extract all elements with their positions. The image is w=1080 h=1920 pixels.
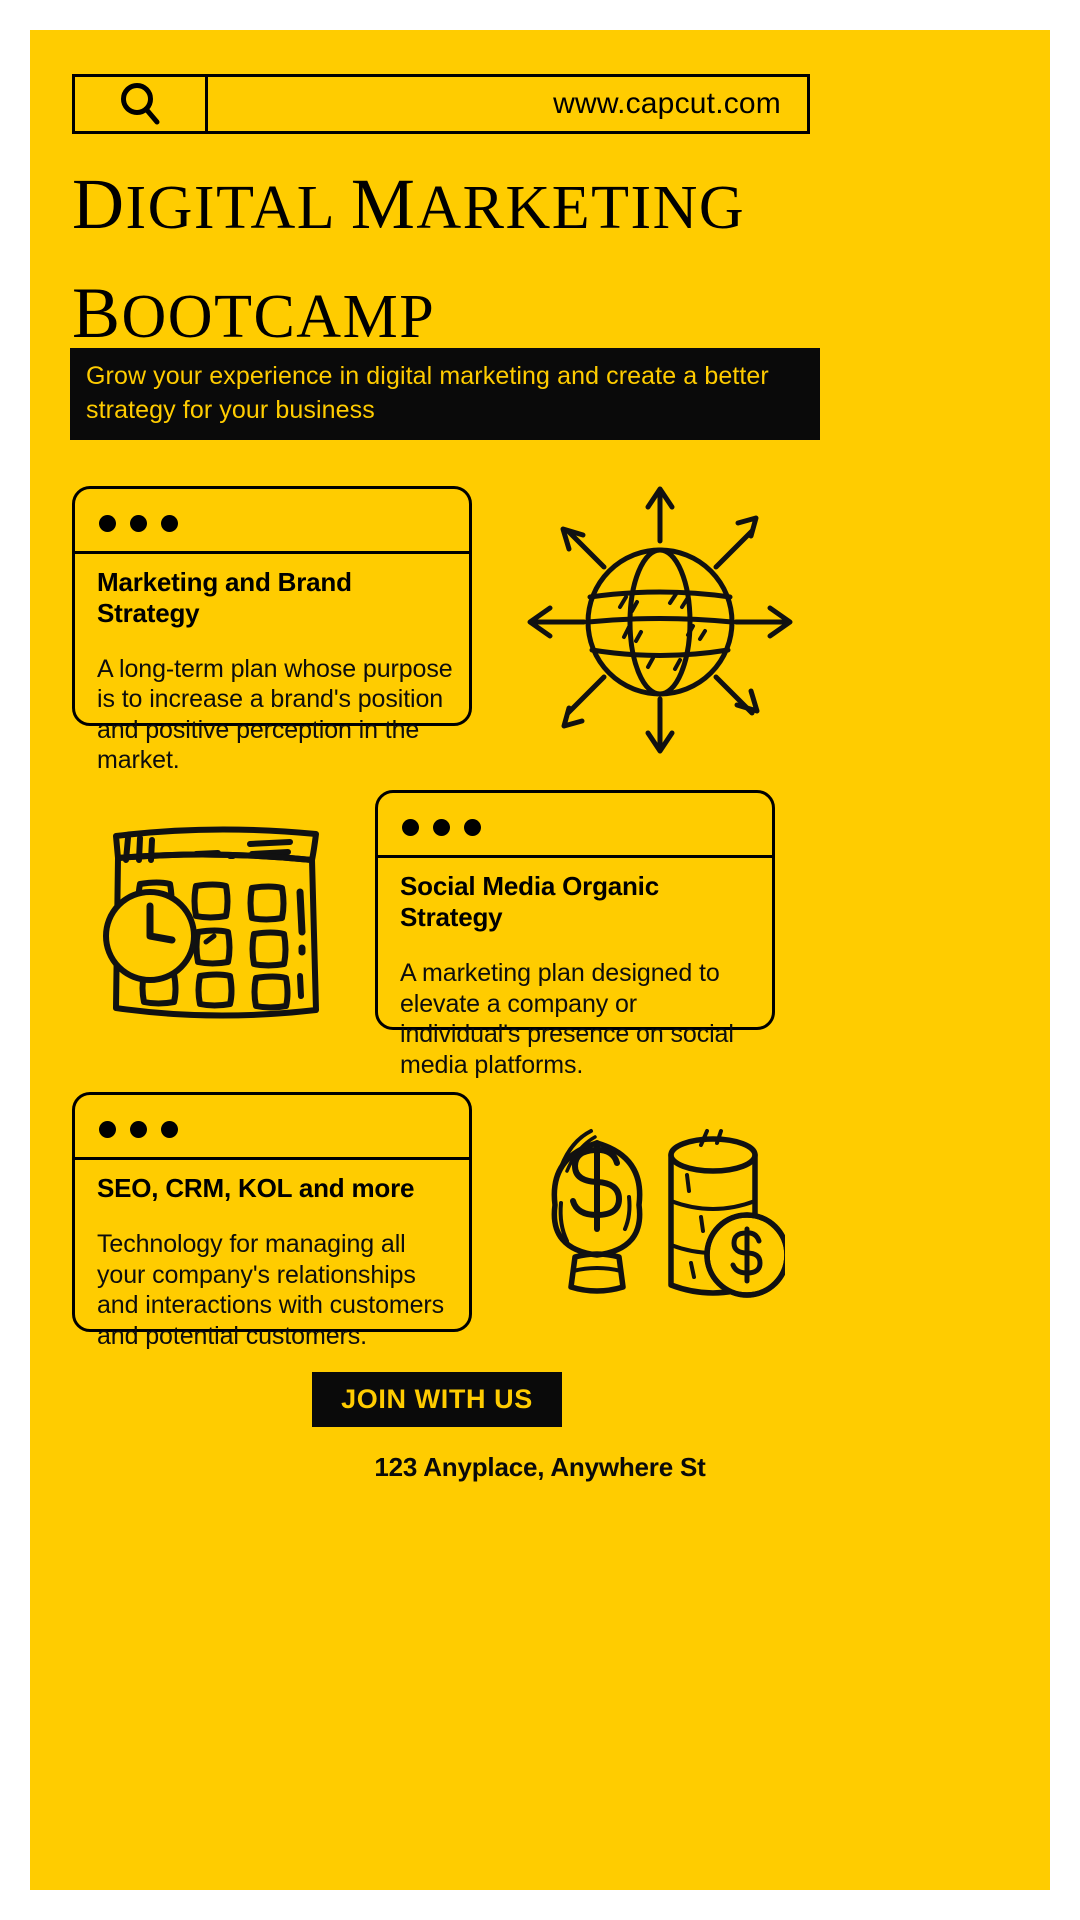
search-url-text[interactable]: www.capcut.com: [208, 77, 807, 131]
calendar-with-clock-icon: [100, 800, 330, 1040]
feature-card-seo-crm-kol[interactable]: SEO, CRM, KOL and more Technology for ma…: [72, 1092, 472, 1332]
card-body: Social Media Organic Strategy A marketin…: [400, 871, 756, 1105]
window-dot-icon: [402, 819, 419, 836]
window-dot-icon: [161, 1121, 178, 1138]
window-dot-icon: [433, 819, 450, 836]
card-divider: [75, 551, 469, 554]
footer-address: 123 Anyplace, Anywhere St: [30, 1452, 1050, 1483]
card-title: Social Media Organic Strategy: [400, 871, 756, 933]
card-divider: [75, 1157, 469, 1160]
search-icon-cell[interactable]: [75, 77, 208, 131]
page-title-line-1: DIGITAL MARKETING: [72, 150, 852, 259]
search-icon: [118, 81, 162, 127]
feature-card-marketing-brand-strategy[interactable]: Marketing and Brand Strategy A long-term…: [72, 486, 472, 726]
window-dots: [99, 1121, 178, 1138]
subtitle-text: Grow your experience in digital marketin…: [70, 360, 820, 428]
join-with-us-button[interactable]: JOIN WITH US: [312, 1372, 562, 1427]
card-title: SEO, CRM, KOL and more: [97, 1173, 453, 1204]
money-bag-and-coins-icon: [525, 1105, 785, 1325]
window-dot-icon: [99, 1121, 116, 1138]
window-dots: [402, 819, 481, 836]
card-text: A long-term plan whose purpose is to inc…: [97, 654, 453, 776]
window-dot-icon: [161, 515, 178, 532]
card-divider: [378, 855, 772, 858]
window-dot-icon: [130, 1121, 147, 1138]
card-text: A marketing plan designed to elevate a c…: [400, 958, 756, 1080]
join-with-us-label: JOIN WITH US: [341, 1384, 533, 1415]
poster-canvas: www.capcut.com DIGITAL MARKETING BOOTCAM…: [30, 30, 1050, 1890]
feature-card-social-media-organic-strategy[interactable]: Social Media Organic Strategy A marketin…: [375, 790, 775, 1030]
search-bar[interactable]: www.capcut.com: [72, 74, 810, 134]
card-body: Marketing and Brand Strategy A long-term…: [97, 567, 453, 801]
window-dot-icon: [130, 515, 147, 532]
globe-with-arrows-icon: [520, 475, 800, 765]
card-title: Marketing and Brand Strategy: [97, 567, 453, 629]
window-dots: [99, 515, 178, 532]
window-dot-icon: [464, 819, 481, 836]
window-dot-icon: [99, 515, 116, 532]
subtitle-banner: Grow your experience in digital marketin…: [70, 348, 820, 440]
page-title: DIGITAL MARKETING BOOTCAMP: [72, 150, 852, 369]
card-text: Technology for managing all your company…: [97, 1229, 453, 1351]
card-body: SEO, CRM, KOL and more Technology for ma…: [97, 1173, 453, 1376]
